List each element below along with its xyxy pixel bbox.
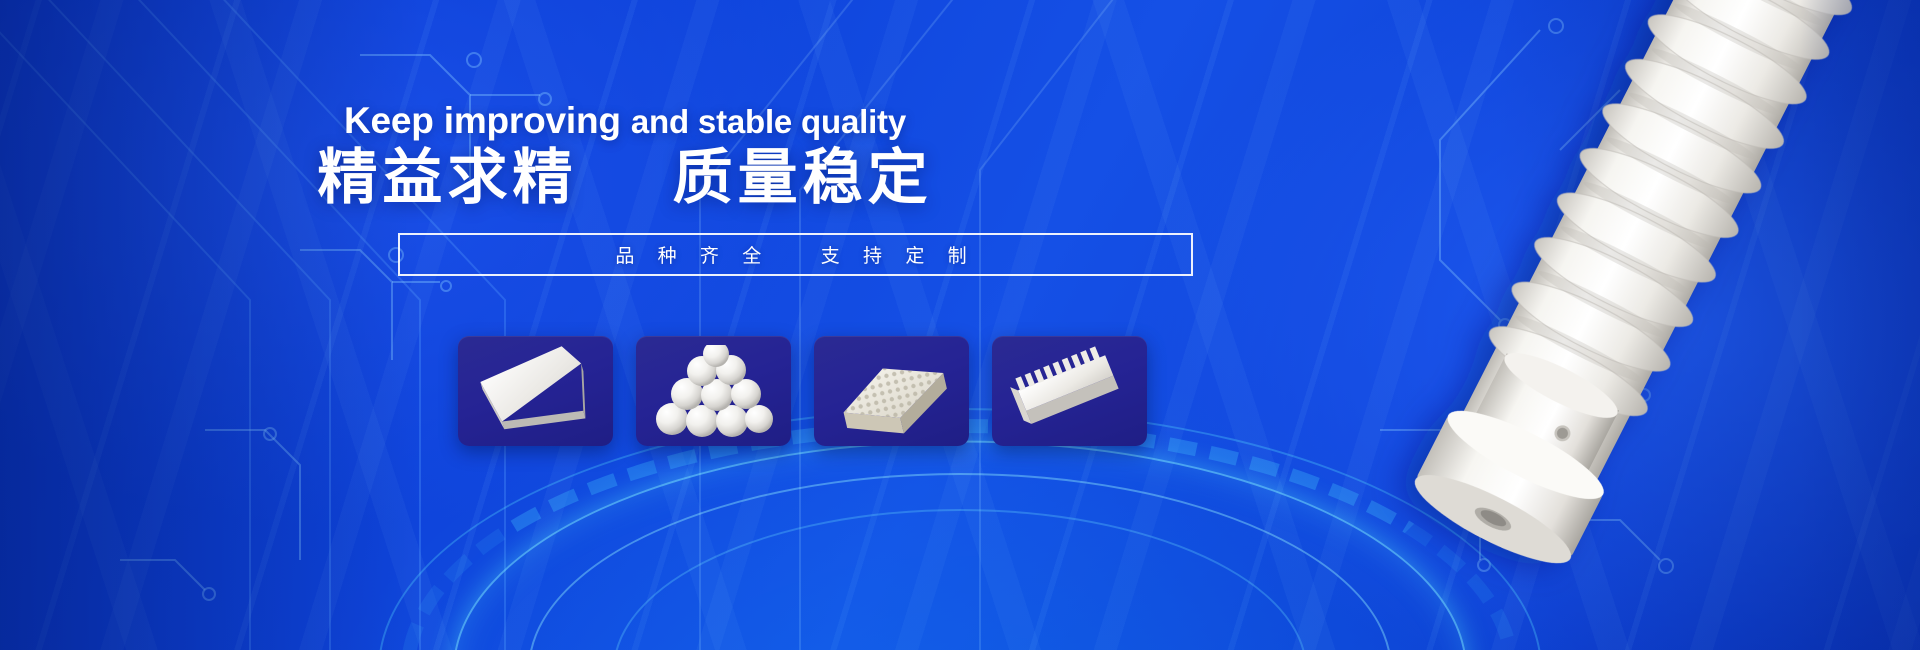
headline-chinese: 精益求精 质量稳定 [0, 146, 1250, 211]
headline-chinese-left: 精益求精 [317, 144, 577, 211]
banner-content: Keep improving and stable quality 精益求精 质… [0, 0, 1250, 650]
promo-banner: Keep improving and stable quality 精益求精 质… [0, 0, 1920, 650]
headline-chinese-right: 质量稳定 [673, 144, 933, 211]
ceramic-screw-auger-shaft [1220, 0, 1920, 650]
ceramic-balls-icon [655, 345, 773, 437]
headline-english-tail: and stable quality [631, 103, 906, 140]
ceramic-toothed-block-icon [1002, 341, 1138, 441]
ceramic-tile-plate-icon [461, 337, 611, 445]
honeycomb-ceramic-icon [822, 339, 962, 443]
subtitle-right: 支 持 定 制 [821, 246, 976, 267]
product-card-ceramic-balls[interactable] [636, 336, 791, 446]
subtitle-text: 品 种 齐 全 支 持 定 制 [615, 241, 975, 268]
headline-english-lead: Keep improving [344, 100, 621, 141]
subtitle-outlined-box: 品 种 齐 全 支 持 定 制 [398, 233, 1193, 276]
right-edge-fade [1800, 0, 1920, 650]
subtitle-left: 品 种 齐 全 [615, 246, 770, 267]
headline-english: Keep improving and stable quality [0, 100, 1250, 142]
product-card-list [458, 336, 1147, 446]
product-card-honeycomb-ceramic[interactable] [814, 336, 969, 446]
product-card-ceramic-toothed-block[interactable] [992, 336, 1147, 446]
product-card-ceramic-tile-plate[interactable] [458, 336, 613, 446]
